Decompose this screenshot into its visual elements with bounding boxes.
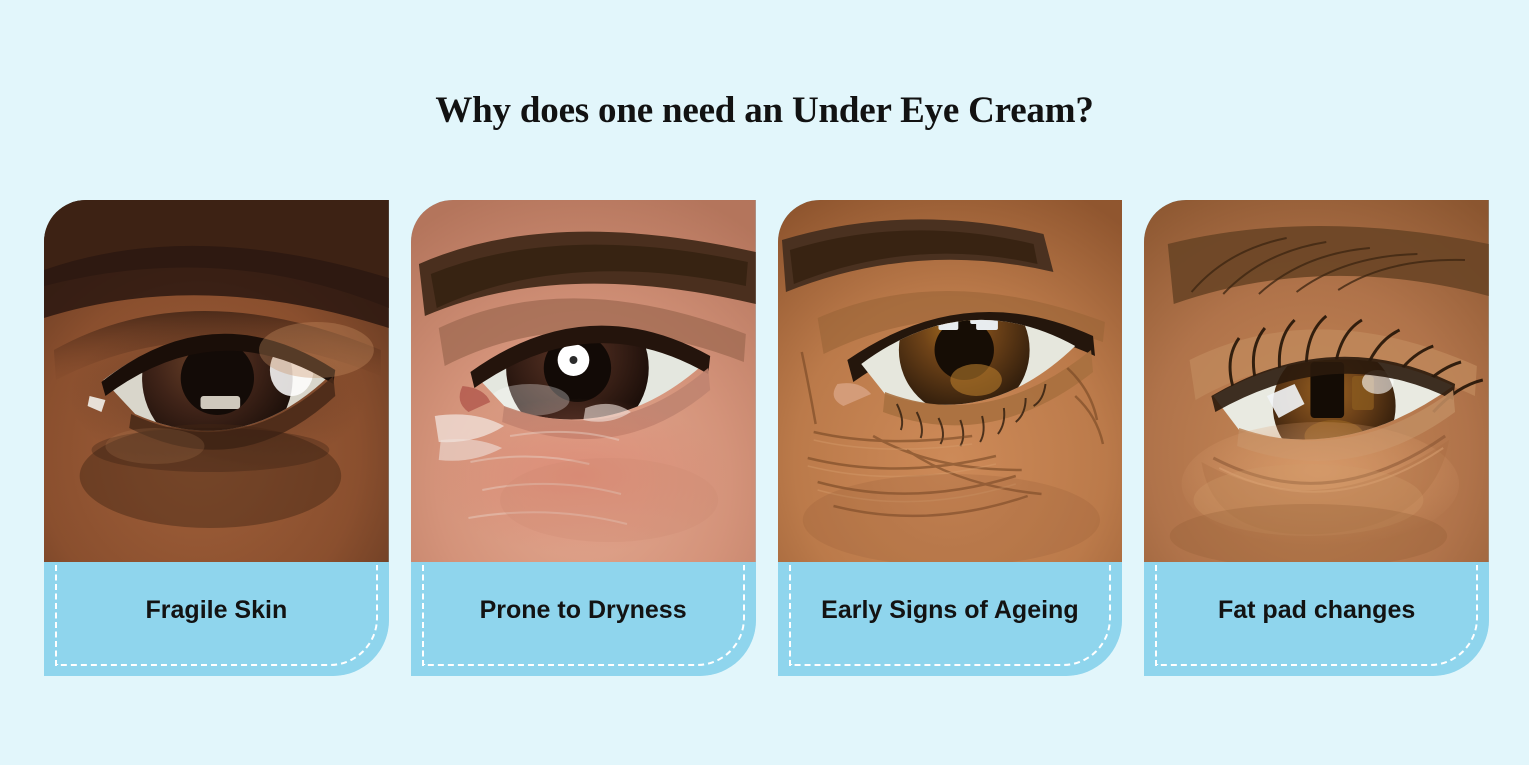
eye-photo-prone-to-dryness: [411, 200, 756, 562]
card-early-signs-of-ageing[interactable]: Early Signs of Ageing: [778, 200, 1123, 676]
eye-photo-early-signs-of-ageing: [778, 200, 1123, 562]
eye-illustration-2: [411, 200, 756, 562]
eye-illustration-4: [1144, 200, 1489, 562]
card-prone-to-dryness[interactable]: Prone to Dryness: [411, 200, 756, 676]
eye-illustration-1: [44, 200, 389, 562]
card-grid: Fragile Skin: [44, 200, 1489, 676]
card-label-band: Fragile Skin: [44, 562, 389, 676]
card-label-prone-to-dryness: Prone to Dryness: [411, 596, 756, 625]
eye-photo-fragile-skin: [44, 200, 389, 562]
eye-photo-fat-pad-changes: [1144, 200, 1489, 562]
infographic-page: Why does one need an Under Eye Cream?: [0, 0, 1529, 765]
card-label-fat-pad-changes: Fat pad changes: [1144, 596, 1489, 625]
card-label-fragile-skin: Fragile Skin: [44, 596, 389, 625]
card-label-early-signs-of-ageing: Early Signs of Ageing: [778, 596, 1123, 625]
card-label-band: Fat pad changes: [1144, 562, 1489, 676]
card-label-band: Prone to Dryness: [411, 562, 756, 676]
eye-illustration-3: [778, 200, 1123, 562]
page-title: Why does one need an Under Eye Cream?: [0, 88, 1529, 134]
card-fat-pad-changes[interactable]: Fat pad changes: [1144, 200, 1489, 676]
card-label-band: Early Signs of Ageing: [778, 562, 1123, 676]
card-fragile-skin[interactable]: Fragile Skin: [44, 200, 389, 676]
